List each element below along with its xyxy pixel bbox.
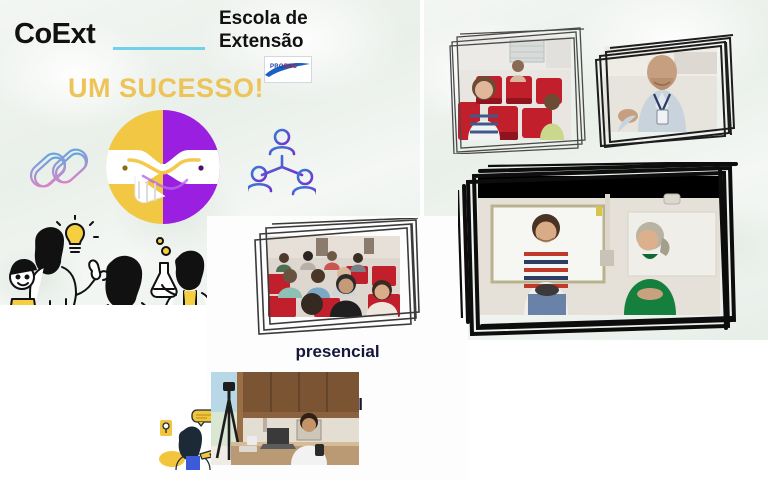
proexc-text-secondary: EXC	[284, 64, 297, 70]
school-name-line1: Escola de	[219, 8, 349, 31]
photo-frame-sketch	[252, 218, 420, 336]
modality-line-presencial: presencial	[207, 342, 468, 362]
brand-divider	[113, 47, 205, 50]
chain-link-icon	[23, 137, 95, 201]
handshake-icon	[103, 106, 223, 228]
photo-frame-sketch	[448, 26, 588, 154]
photo-frame-sketch	[588, 30, 736, 148]
school-name: Escola de Extensão	[219, 8, 349, 54]
brand-title: CoExt	[14, 18, 95, 51]
photo-frame-sketch	[458, 162, 740, 336]
school-name-line2: Extensão	[219, 31, 349, 54]
slide-canvas: CoExt Escola de Extensão UM SUCESSO! PRO…	[0, 0, 768, 480]
headline: UM SUCESSO!	[68, 73, 264, 104]
photo-remote-desk	[211, 372, 359, 465]
proexc-text-primary: PRO	[270, 64, 284, 70]
org-chart-icon	[248, 127, 316, 197]
proexc-logo: PROEXC	[264, 56, 312, 83]
